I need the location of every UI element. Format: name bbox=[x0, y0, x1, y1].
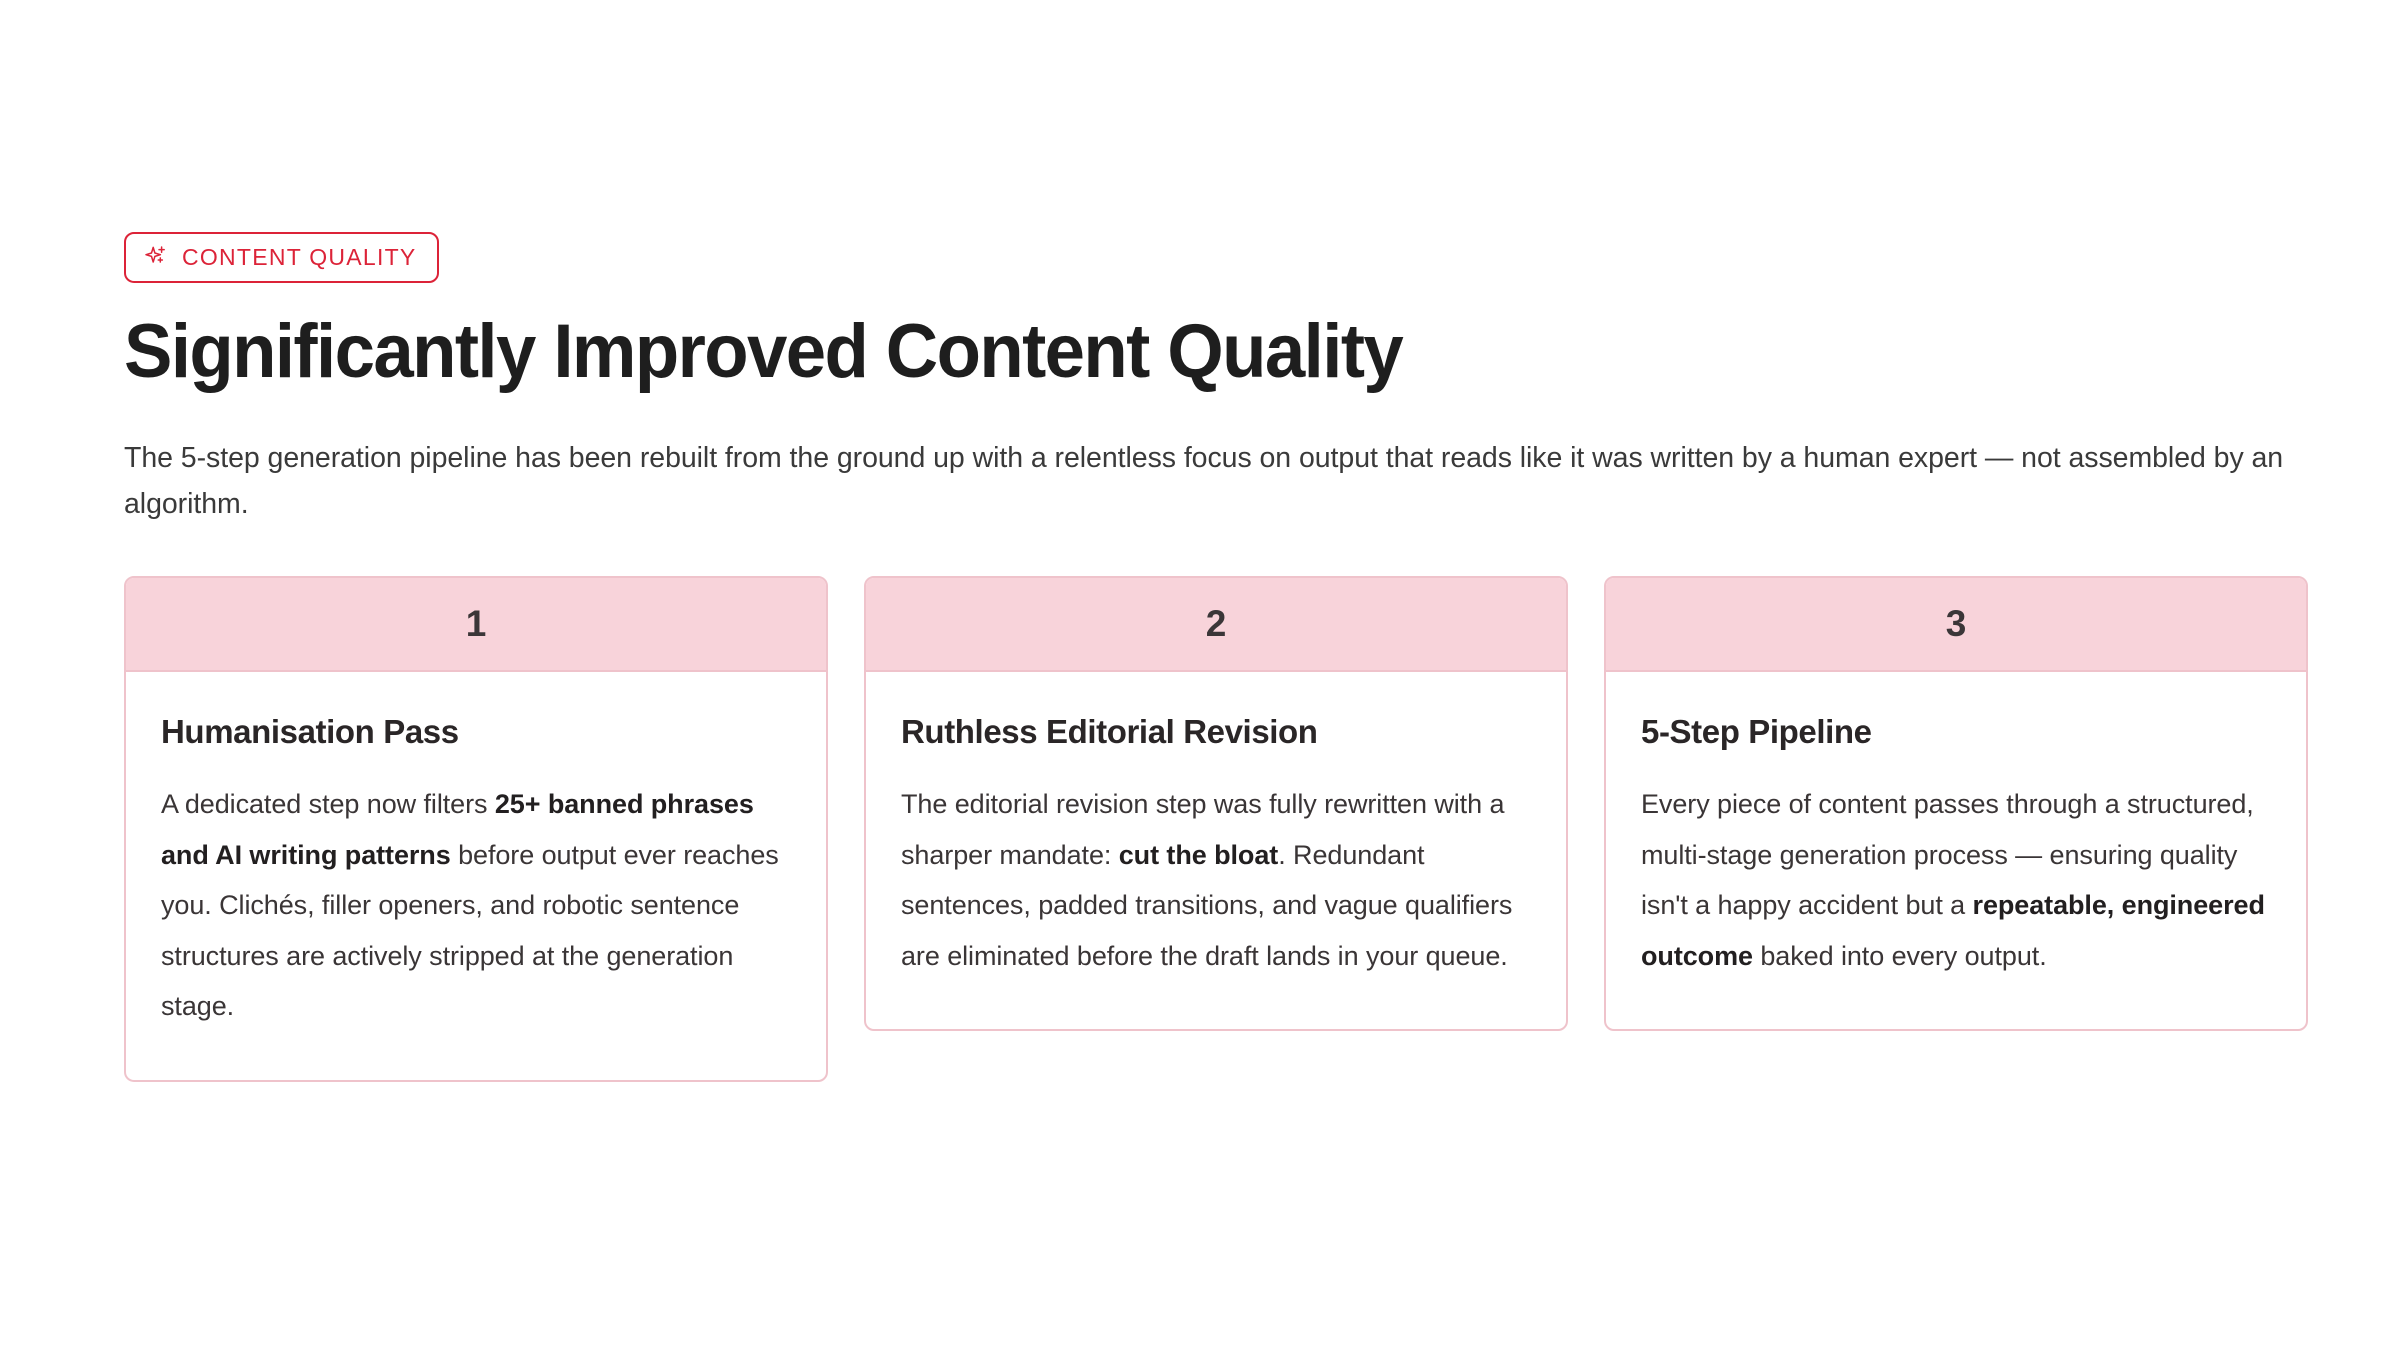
content-quality-badge: CONTENT QUALITY bbox=[124, 232, 439, 283]
content-container: CONTENT QUALITY Significantly Improved C… bbox=[124, 232, 2308, 1082]
card-header: 3 bbox=[1606, 578, 2306, 672]
page-title: Significantly Improved Content Quality bbox=[124, 312, 2210, 393]
card-step-number: 1 bbox=[466, 605, 487, 642]
card-title: Ruthless Editorial Revision bbox=[901, 712, 1531, 752]
feature-card: 3 5-Step Pipeline Every piece of content… bbox=[1604, 576, 2308, 1032]
badge-label: CONTENT QUALITY bbox=[182, 246, 417, 269]
card-description: The editorial revision step was fully re… bbox=[901, 779, 1531, 981]
page-root: CONTENT QUALITY Significantly Improved C… bbox=[0, 0, 2400, 1350]
card-step-number: 3 bbox=[1946, 605, 1967, 642]
feature-card: 1 Humanisation Pass A dedicated step now… bbox=[124, 576, 828, 1082]
card-body: Humanisation Pass A dedicated step now f… bbox=[126, 672, 826, 1080]
card-title: Humanisation Pass bbox=[161, 712, 791, 752]
feature-cards-row: 1 Humanisation Pass A dedicated step now… bbox=[124, 576, 2308, 1082]
page-description: The 5-step generation pipeline has been … bbox=[124, 435, 2284, 527]
card-header: 2 bbox=[866, 578, 1566, 672]
sparkles-icon bbox=[144, 244, 170, 270]
card-title: 5-Step Pipeline bbox=[1641, 712, 2271, 752]
card-header: 1 bbox=[126, 578, 826, 672]
card-body: 5-Step Pipeline Every piece of content p… bbox=[1606, 672, 2306, 1030]
card-description: Every piece of content passes through a … bbox=[1641, 779, 2271, 981]
card-body: Ruthless Editorial Revision The editoria… bbox=[866, 672, 1566, 1030]
card-step-number: 2 bbox=[1206, 605, 1227, 642]
feature-card: 2 Ruthless Editorial Revision The editor… bbox=[864, 576, 1568, 1032]
card-description: A dedicated step now filters 25+ banned … bbox=[161, 779, 791, 1031]
